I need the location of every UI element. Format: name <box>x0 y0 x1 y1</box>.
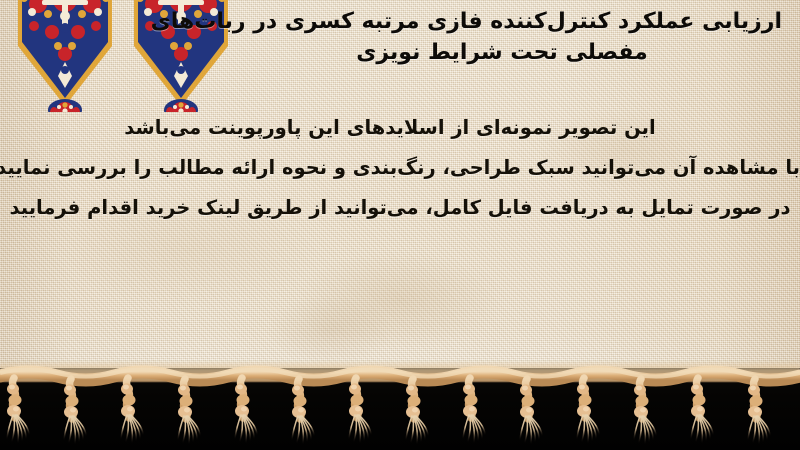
slide-body-line-3: در صورت تمایل به دریافت فایل کامل، می‌تو… <box>0 188 800 228</box>
slide-body-line-1: این تصویر نمونه‌ای از اسلایدهای این پاور… <box>0 108 800 148</box>
slide-title-line-2: مفصلی تحت شرایط نویزی <box>222 37 782 68</box>
slide-body-line-2: با مشاهده آن می‌توانید سبک طراحی، رنگ‌بن… <box>0 148 800 188</box>
slide-title-line-1: ارزیابی عملکرد کنترل‌کننده فازی مرتبه کس… <box>222 6 782 37</box>
presentation-slide: ارزیابی عملکرد کنترل‌کننده فازی مرتبه کس… <box>0 0 800 450</box>
slide-body: این تصویر نمونه‌ای از اسلایدهای این پاور… <box>0 108 800 228</box>
carpet-knotted-fringe <box>0 364 800 450</box>
slide-title: ارزیابی عملکرد کنترل‌کننده فازی مرتبه کس… <box>222 6 782 68</box>
persian-medallion-ornament <box>12 0 118 112</box>
